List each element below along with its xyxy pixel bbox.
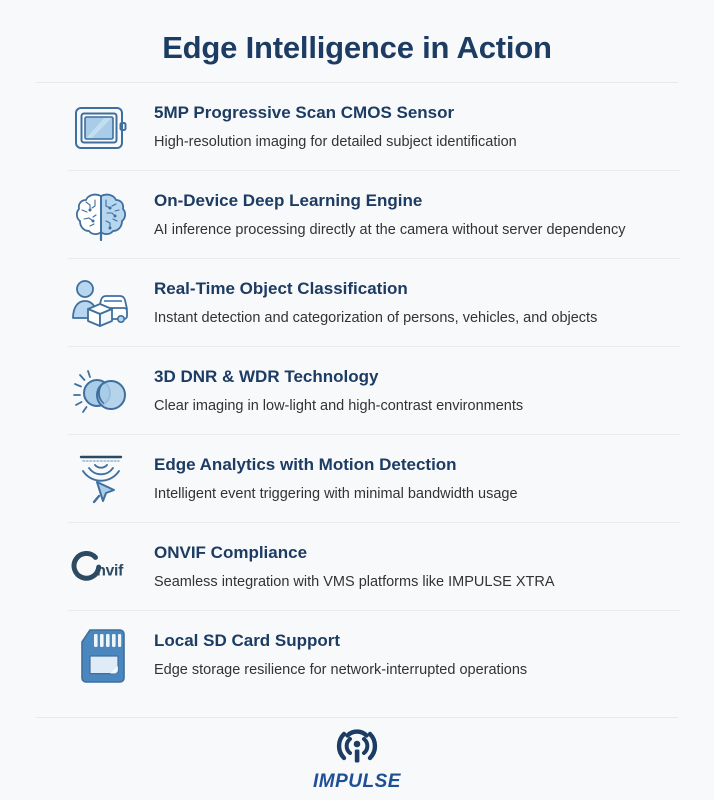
feature-title: 5MP Progressive Scan CMOS Sensor: [154, 102, 517, 123]
motion-sensor-waves-icon: [68, 449, 134, 511]
feature-row: Local SD Card Support Edge storage resil…: [68, 611, 680, 698]
feature-row: Real-Time Object Classification Instant …: [68, 259, 680, 347]
feature-description: Clear imaging in low-light and high-cont…: [154, 397, 523, 416]
infographic-page: Edge Intelligence in Action 5MP Progress…: [0, 0, 714, 800]
feature-text: On-Device Deep Learning Engine AI infere…: [134, 183, 626, 240]
page-header: Edge Intelligence in Action: [34, 0, 680, 82]
person-car-box-icon: [68, 273, 134, 335]
feature-row: Edge Analytics with Motion Detection Int…: [68, 435, 680, 523]
overlapping-circles-rays-icon: [68, 361, 134, 423]
impulse-signal-icon: [335, 727, 379, 770]
feature-description: Edge storage resilience for network-inte…: [154, 661, 527, 680]
onvif-logo-icon: nvif: [68, 537, 134, 599]
feature-list: 5MP Progressive Scan CMOS Sensor High-re…: [34, 83, 680, 717]
feature-row: 5MP Progressive Scan CMOS Sensor High-re…: [68, 83, 680, 171]
feature-text: ONVIF Compliance Seamless integration wi…: [134, 535, 555, 592]
feature-title: Edge Analytics with Motion Detection: [154, 454, 518, 475]
feature-title: Real-Time Object Classification: [154, 278, 597, 299]
onvif-letters: nvif: [96, 563, 124, 580]
feature-description: Instant detection and categorization of …: [154, 309, 597, 328]
feature-description: Intelligent event triggering with minima…: [154, 485, 518, 504]
feature-title: 3D DNR & WDR Technology: [154, 366, 523, 387]
page-title: Edge Intelligence in Action: [34, 29, 680, 66]
feature-text: 3D DNR & WDR Technology Clear imaging in…: [134, 359, 523, 416]
brain-chip-icon: [68, 185, 134, 247]
feature-row: On-Device Deep Learning Engine AI infere…: [68, 171, 680, 259]
feature-title: ONVIF Compliance: [154, 542, 555, 563]
feature-title: On-Device Deep Learning Engine: [154, 190, 626, 211]
feature-description: Seamless integration with VMS platforms …: [154, 573, 555, 592]
brand-wordmark: IMPULSE: [313, 772, 401, 791]
sd-card-icon: [68, 625, 134, 687]
feature-row: 3D DNR & WDR Technology Clear imaging in…: [68, 347, 680, 435]
feature-row: nvif ONVIF Compliance Seamless integrati…: [68, 523, 680, 611]
feature-description: High-resolution imaging for detailed sub…: [154, 133, 517, 152]
cmos-sensor-icon: [68, 97, 134, 159]
feature-title: Local SD Card Support: [154, 630, 527, 651]
feature-text: 5MP Progressive Scan CMOS Sensor High-re…: [134, 95, 517, 152]
feature-description: AI inference processing directly at the …: [154, 221, 626, 240]
feature-text: Edge Analytics with Motion Detection Int…: [134, 447, 518, 504]
footer-brand: IMPULSE: [34, 718, 680, 800]
feature-text: Real-Time Object Classification Instant …: [134, 271, 597, 328]
feature-text: Local SD Card Support Edge storage resil…: [134, 623, 527, 680]
